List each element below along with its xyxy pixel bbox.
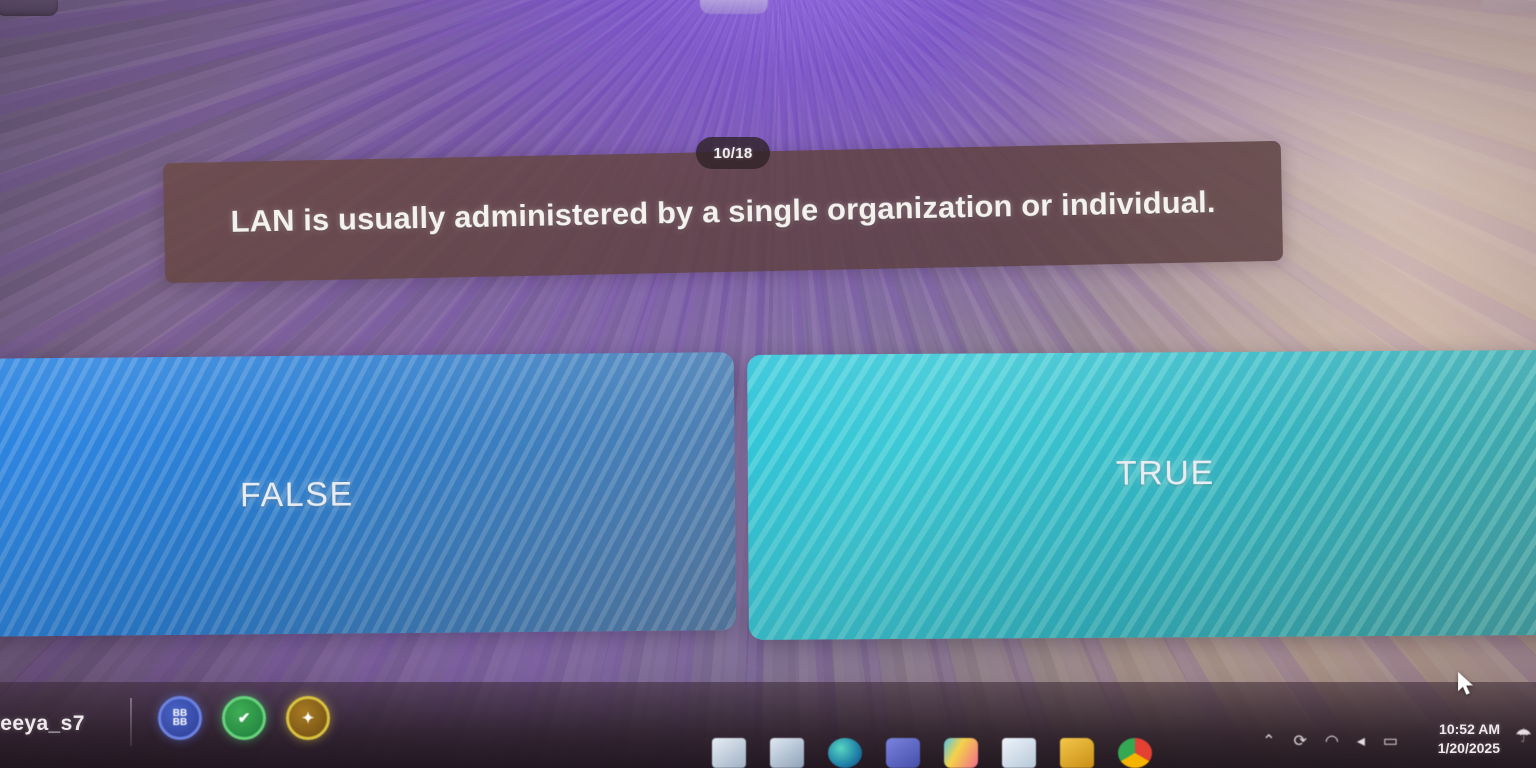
badge-green-icon[interactable]: ✔ [222,696,266,740]
app-icon-photos[interactable] [944,738,978,768]
update-sync-icon[interactable]: ⟳ [1293,734,1306,750]
app-icon-explorer-search[interactable] [712,738,746,768]
app-icon-store[interactable] [1002,738,1036,768]
username-label: leeya_s7 [0,712,85,736]
app-icon-teams[interactable] [886,738,920,768]
sheen-true [747,349,1536,640]
notification-icon[interactable]: ☂ [1515,725,1532,748]
answer-options: FALSE TRUE [0,0,1536,768]
app-icon-edge[interactable] [828,738,862,768]
taskbar: leeya_s7 BBBB ✔ ✦ ⌃ ⟳ ◠ ◂ ▭ 10:52 AM 1/2… [0,682,1536,768]
taskbar-app-icons [712,738,1152,768]
sheen-false [0,352,736,638]
battery-icon[interactable]: ▭ [1383,734,1398,750]
moire-stripes-false [0,352,736,638]
moire-stripes-true [747,349,1536,640]
mouse-cursor-icon [1458,672,1478,698]
question-text: LAN is usually administered by a single … [206,184,1240,241]
answer-button-true[interactable]: TRUE [747,349,1536,640]
clock[interactable]: 10:52 AM 1/20/2025 [1438,720,1500,758]
chevron-up-icon[interactable]: ⌃ [1262,734,1275,750]
answer-label-true: TRUE [1116,454,1215,494]
clock-date: 1/20/2025 [1438,739,1500,758]
app-icon-chrome[interactable] [1118,738,1152,768]
system-tray: ⌃ ⟳ ◠ ◂ ▭ [1262,734,1398,750]
badge-group: BBBB ✔ ✦ [158,696,330,740]
badge-blue-icon[interactable]: BBBB [158,696,202,740]
app-icon-file-explorer[interactable] [1060,738,1094,768]
volume-icon[interactable]: ◂ [1357,734,1365,750]
taskbar-divider [130,698,132,746]
answer-label-false: FALSE [240,475,354,515]
answer-button-false[interactable]: FALSE [0,352,736,638]
badge-gold-icon[interactable]: ✦ [286,696,330,740]
question-counter: 10/18 [696,137,770,169]
app-icon-word[interactable] [770,738,804,768]
wifi-icon[interactable]: ◠ [1325,734,1339,750]
clock-time: 10:52 AM [1438,720,1500,739]
